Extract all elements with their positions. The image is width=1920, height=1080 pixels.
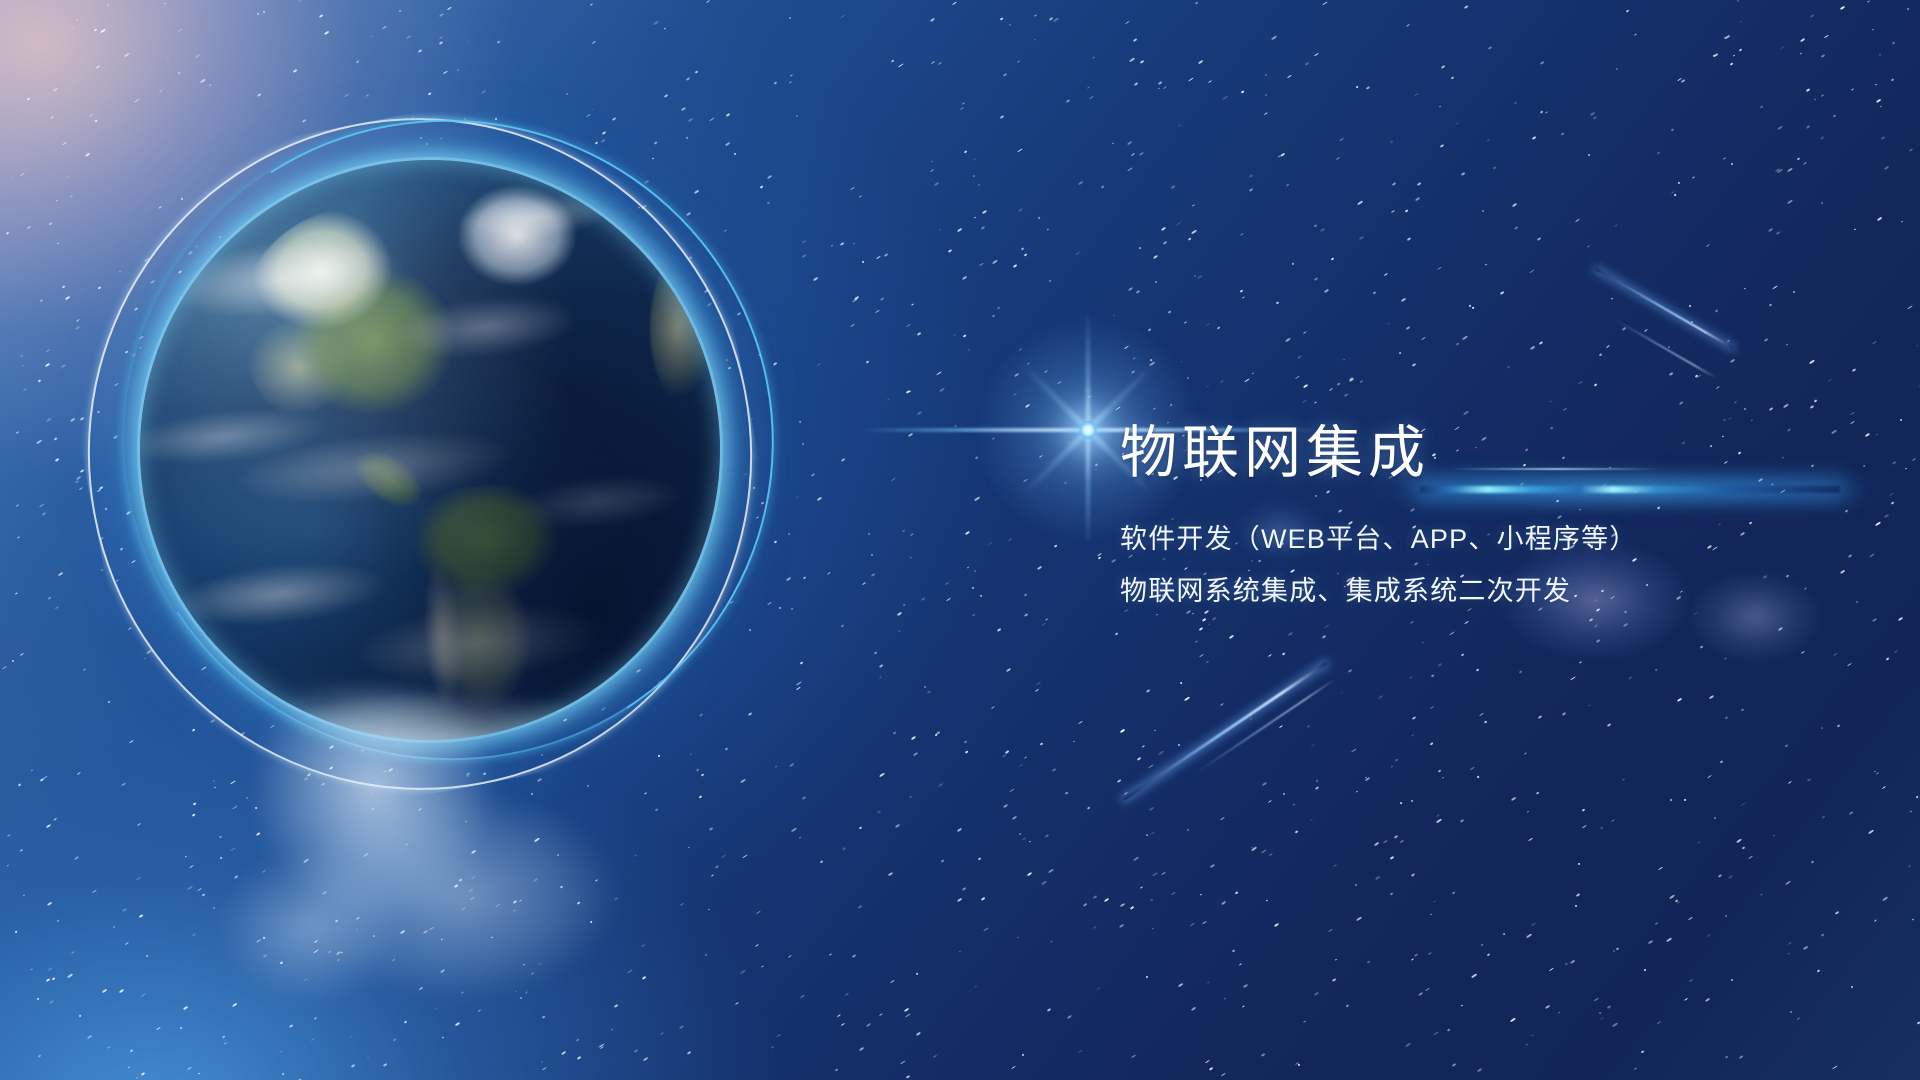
banner-subtitle-line-1: 软件开发（WEB平台、APP、小程序等） — [1120, 514, 1840, 566]
hero-banner: 物联网集成 软件开发（WEB平台、APP、小程序等） 物联网系统集成、集成系统二… — [0, 0, 1920, 1080]
meteor-streak-lower-1 — [1123, 662, 1327, 801]
meteor-streak-lower-2 — [1195, 678, 1335, 774]
banner-title: 物联网集成 — [1120, 424, 1840, 484]
flare-ray-vertical — [1086, 310, 1090, 550]
flare-core — [1079, 421, 1097, 439]
meteor-streak-upper-2 — [1614, 318, 1717, 379]
banner-subtitle: 软件开发（WEB平台、APP、小程序等） 物联网系统集成、集成系统二次开发 — [1120, 514, 1840, 618]
banner-subtitle-line-2: 物联网系统集成、集成系统二次开发 — [1120, 566, 1840, 618]
meteor-streak-upper-1 — [1596, 268, 1734, 349]
earth-globe — [140, 160, 720, 740]
banner-copy: 物联网集成 软件开发（WEB平台、APP、小程序等） 物联网系统集成、集成系统二… — [1120, 424, 1840, 618]
globe-atmosphere-rim — [137, 157, 723, 743]
